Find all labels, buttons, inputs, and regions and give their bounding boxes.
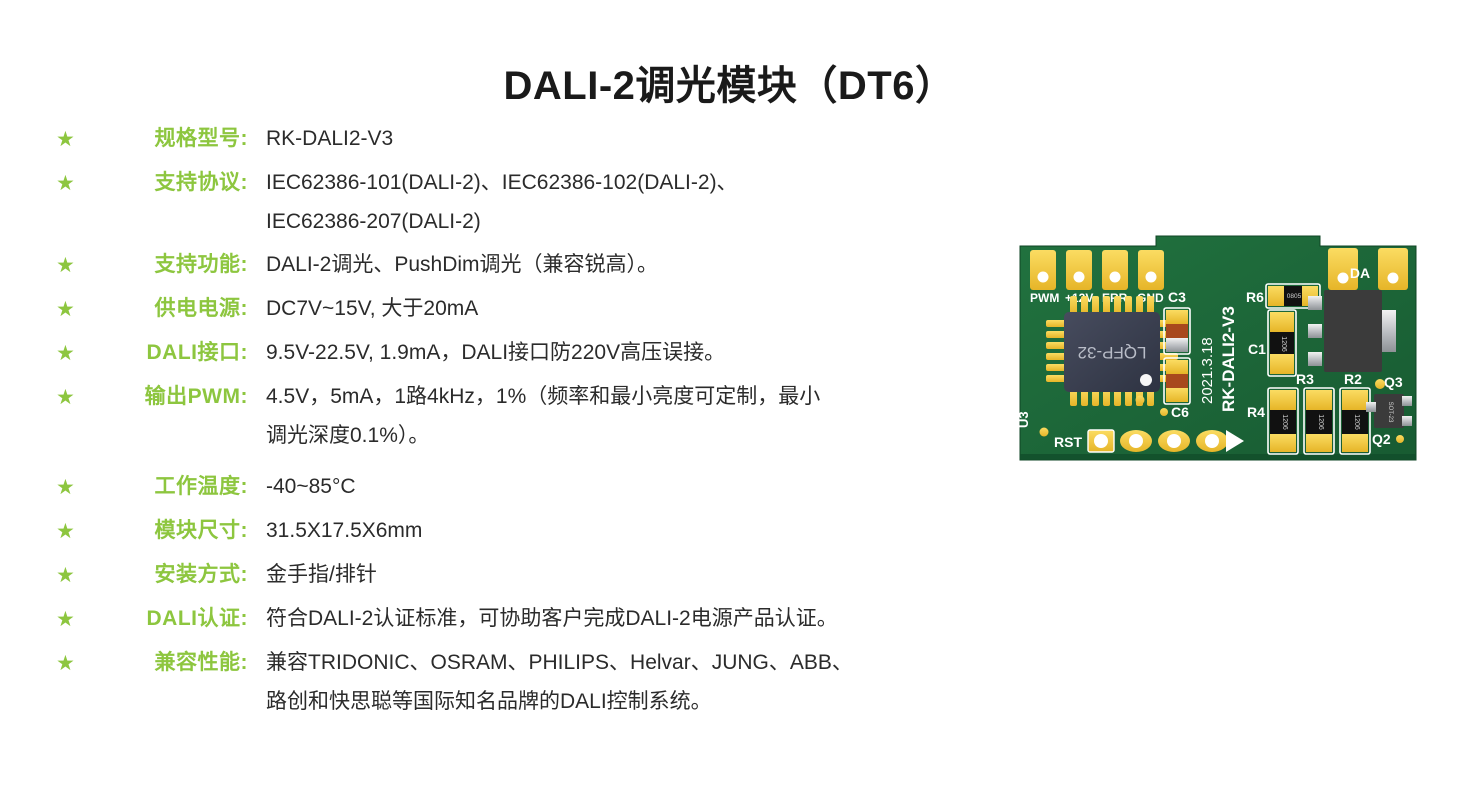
- spec-row-mounting: ★ 安装方式: 金手指/排针: [56, 558, 986, 593]
- spec-value-line: 兼容TRIDONIC、OSRAM、PHILIPS、Helvar、JUNG、ABB…: [266, 646, 986, 680]
- spec-value-line: DALI-2调光、PushDim调光（兼容锐高）。: [266, 248, 986, 282]
- silk-label-lqfp32: LQFP-32: [1078, 343, 1147, 362]
- spec-value-certification: 符合DALI-2认证标准，可协助客户完成DALI-2电源产品认证。: [248, 602, 986, 636]
- spec-value-line: -40~85°C: [266, 470, 986, 504]
- spec-value-line: 调光深度0.1%）。: [266, 419, 986, 453]
- star-icon: ★: [56, 558, 90, 593]
- spec-value-line: RK-DALI2-V3: [266, 122, 986, 156]
- specification-list: ★ 规格型号: RK-DALI2-V3 ★ 支持协议: IEC62386-101…: [56, 122, 986, 728]
- silk-label-c6: C6: [1171, 404, 1189, 420]
- spec-label-functions: 支持功能:: [90, 248, 248, 282]
- spec-value-line: DC7V~15V, 大于20mA: [266, 292, 986, 326]
- spec-label-operating-temperature: 工作温度:: [90, 470, 248, 504]
- spec-label-model: 规格型号:: [90, 122, 248, 156]
- silk-label-da: DA: [1350, 265, 1370, 281]
- silk-part-1206: 1206: [1317, 414, 1324, 430]
- silk-label-r4: R4: [1247, 404, 1265, 420]
- silk-label-q2: Q2: [1372, 431, 1391, 447]
- pcb-product-image: PWM +12V ERR GND DA: [1012, 232, 1424, 470]
- page-title: DALI-2调光模块（DT6）: [0, 53, 1459, 111]
- silk-part-1206: 1206: [1280, 336, 1287, 352]
- spec-value-line: 9.5V-22.5V, 1.9mA，DALI接口防220V高压误接。: [266, 336, 986, 370]
- silk-label-r3: R3: [1296, 371, 1314, 387]
- silk-part-1206: 1206: [1281, 414, 1288, 430]
- spec-row-compatibility: ★ 兼容性能: 兼容TRIDONIC、OSRAM、PHILIPS、Helvar、…: [56, 646, 986, 719]
- silk-label-u3: U3: [1016, 411, 1031, 428]
- silk-part-0805: 0805: [1287, 293, 1302, 300]
- spec-value-line: IEC62386-207(DALI-2): [266, 205, 986, 239]
- spec-value-operating-temperature: -40~85°C: [248, 470, 986, 504]
- spec-value-mounting: 金手指/排针: [248, 558, 986, 592]
- star-icon: ★: [56, 602, 90, 637]
- silk-label-12v: +12V: [1065, 291, 1093, 305]
- star-icon: ★: [56, 380, 90, 415]
- silk-label-c3: C3: [1168, 289, 1186, 305]
- star-icon: ★: [56, 166, 90, 201]
- spec-label-dimensions: 模块尺寸:: [90, 514, 248, 548]
- spec-row-dali-interface: ★ DALI接口: 9.5V-22.5V, 1.9mA，DALI接口防220V高…: [56, 336, 986, 371]
- spec-value-functions: DALI-2调光、PushDim调光（兼容锐高）。: [248, 248, 986, 282]
- star-icon: ★: [56, 122, 90, 157]
- spec-label-certification: DALI认证:: [90, 602, 248, 636]
- spec-row-functions: ★ 支持功能: DALI-2调光、PushDim调光（兼容锐高）。: [56, 248, 986, 283]
- spec-row-dimensions: ★ 模块尺寸: 31.5X17.5X6mm: [56, 514, 986, 549]
- spec-value-line: 金手指/排针: [266, 558, 986, 592]
- spec-value-protocol: IEC62386-101(DALI-2)、IEC62386-102(DALI-2…: [248, 166, 986, 239]
- spec-label-power-supply: 供电电源:: [90, 292, 248, 326]
- star-icon: ★: [56, 292, 90, 327]
- spec-label-pwm-output: 输出PWM:: [90, 380, 248, 414]
- star-icon: ★: [56, 646, 90, 681]
- spec-label-compatibility: 兼容性能:: [90, 646, 248, 680]
- spec-value-pwm-output: 4.5V，5mA，1路4kHz，1%（频率和最小亮度可定制，最小 调光深度0.1…: [248, 380, 986, 453]
- spec-value-model: RK-DALI2-V3: [248, 122, 986, 156]
- spec-row-operating-temperature: ★ 工作温度: -40~85°C: [56, 470, 986, 505]
- spec-value-line: 4.5V，5mA，1路4kHz，1%（频率和最小亮度可定制，最小: [266, 380, 986, 414]
- spec-value-power-supply: DC7V~15V, 大于20mA: [248, 292, 986, 326]
- spec-value-line: 路创和快思聪等国际知名品牌的DALI控制系统。: [266, 685, 986, 719]
- spec-value-line: 符合DALI-2认证标准，可协助客户完成DALI-2电源产品认证。: [266, 602, 986, 636]
- spec-row-power-supply: ★ 供电电源: DC7V~15V, 大于20mA: [56, 292, 986, 327]
- pcb-caps-c3-c6: C3 C6: [1160, 289, 1190, 420]
- spec-row-pwm-output: ★ 输出PWM: 4.5V，5mA，1路4kHz，1%（频率和最小亮度可定制，最…: [56, 380, 986, 453]
- star-icon: ★: [56, 248, 90, 283]
- spec-row-model: ★ 规格型号: RK-DALI2-V3: [56, 122, 986, 157]
- pcb-illustration: PWM +12V ERR GND DA: [1012, 232, 1424, 470]
- spec-label-dali-interface: DALI接口:: [90, 336, 248, 370]
- spec-value-compatibility: 兼容TRIDONIC、OSRAM、PHILIPS、Helvar、JUNG、ABB…: [248, 646, 986, 719]
- spec-label-protocol: 支持协议:: [90, 166, 248, 200]
- silk-label-board-name: RK-DALI2-V3: [1219, 306, 1238, 412]
- svg-text:SOT-23: SOT-23: [1387, 402, 1393, 423]
- spec-row-certification: ★ DALI认证: 符合DALI-2认证标准，可协助客户完成DALI-2电源产品…: [56, 602, 986, 637]
- silk-label-c1: C1: [1248, 341, 1266, 357]
- silk-label-board-date: 2021.3.18: [1199, 337, 1216, 404]
- silk-label-pwm: PWM: [1030, 291, 1059, 305]
- spec-label-mounting: 安装方式:: [90, 558, 248, 592]
- star-icon: ★: [56, 514, 90, 549]
- spec-value-line: IEC62386-101(DALI-2)、IEC62386-102(DALI-2…: [266, 166, 986, 200]
- silk-label-rst: RST: [1054, 434, 1082, 450]
- spec-value-line: 31.5X17.5X6mm: [266, 514, 986, 548]
- star-icon: ★: [56, 470, 90, 505]
- silk-label-r2: R2: [1344, 371, 1362, 387]
- star-icon: ★: [56, 336, 90, 371]
- spec-value-dali-interface: 9.5V-22.5V, 1.9mA，DALI接口防220V高压误接。: [248, 336, 986, 370]
- silk-label-r6: R6: [1246, 289, 1264, 305]
- spec-value-dimensions: 31.5X17.5X6mm: [248, 514, 986, 548]
- silk-label-q3: Q3: [1384, 374, 1403, 390]
- spec-row-protocol: ★ 支持协议: IEC62386-101(DALI-2)、IEC62386-10…: [56, 166, 986, 239]
- silk-part-1206: 1206: [1353, 414, 1360, 430]
